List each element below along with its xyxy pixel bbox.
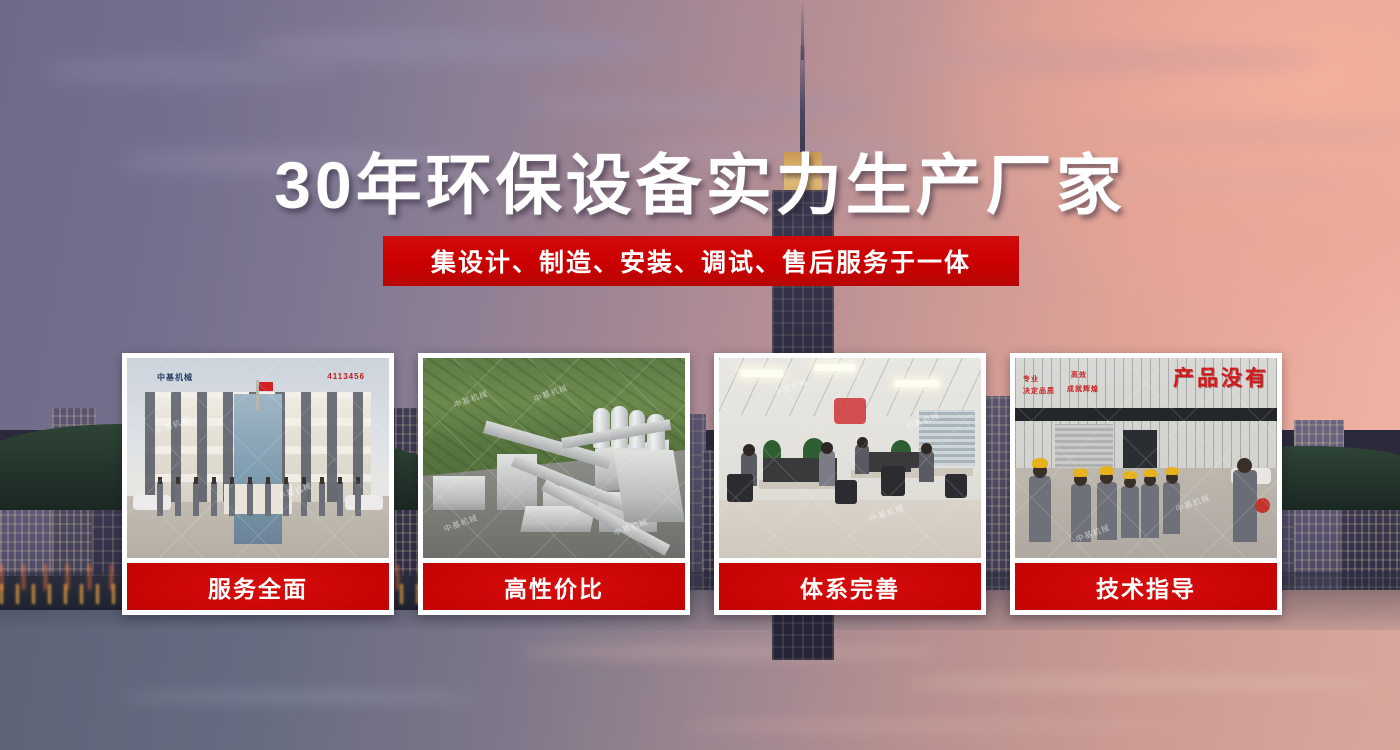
water-reflection — [680, 720, 1200, 732]
workers-training-photo: 产品没有 专业 决定品质 高效 成就辉煌 — [1015, 358, 1277, 558]
factory-slogan: 决定品质 — [1023, 386, 1055, 396]
card-caption-text: 服务全面 — [208, 570, 308, 604]
aerial-plant-photo: 中基机械 中基机械 中基机械 中基机械 — [423, 358, 685, 558]
feature-card-list: 中基机械 4113456 中基机械 中基机械 服务全面 — [122, 353, 1282, 615]
subtitle-text: 集设计、制造、安装、调试、售后服务于一体 — [431, 243, 971, 279]
water-reflection — [120, 692, 480, 702]
factory-sign-text: 产品没有 — [1173, 362, 1269, 392]
feature-card[interactable]: 中基机械 中基机械 中基机械 体系完善 — [714, 353, 986, 615]
subtitle-banner: 集设计、制造、安装、调试、售后服务于一体 — [383, 236, 1019, 286]
feature-card[interactable]: 中基机械 中基机械 中基机械 中基机械 高性价比 — [418, 353, 690, 615]
card-caption-text: 高性价比 — [504, 570, 604, 604]
water-reflection — [520, 646, 940, 658]
office-interior-photo: 中基机械 中基机械 中基机械 — [719, 358, 981, 558]
factory-slogan: 成就辉煌 — [1067, 384, 1099, 394]
feature-card[interactable]: 中基机械 4113456 中基机械 中基机械 服务全面 — [122, 353, 394, 615]
card-caption: 技术指导 — [1015, 563, 1277, 610]
headline: 30年环保设备实力生产厂家 — [0, 132, 1400, 228]
factory-slogan: 高效 — [1071, 370, 1087, 380]
building-phone-text: 4113456 — [327, 372, 365, 381]
card-caption: 高性价比 — [423, 563, 685, 610]
card-caption-text: 技术指导 — [1096, 570, 1196, 604]
wall-logo — [834, 398, 866, 424]
cloud — [900, 44, 1320, 74]
feature-card[interactable]: 产品没有 专业 决定品质 高效 成就辉煌 — [1010, 353, 1282, 615]
water-reflection — [900, 676, 1380, 690]
company-headquarters-photo: 中基机械 4113456 中基机械 中基机械 — [127, 358, 389, 558]
cloud — [40, 58, 340, 84]
card-caption: 服务全面 — [127, 563, 389, 610]
cloud — [250, 30, 670, 64]
card-caption: 体系完善 — [719, 563, 981, 610]
building-sign-text: 中基机械 — [157, 372, 193, 383]
card-caption-text: 体系完善 — [800, 570, 900, 604]
factory-slogan: 专业 — [1023, 374, 1039, 384]
promo-banner: 30年环保设备实力生产厂家 集设计、制造、安装、调试、售后服务于一体 中基机械 … — [0, 0, 1400, 750]
cloud — [520, 96, 880, 118]
